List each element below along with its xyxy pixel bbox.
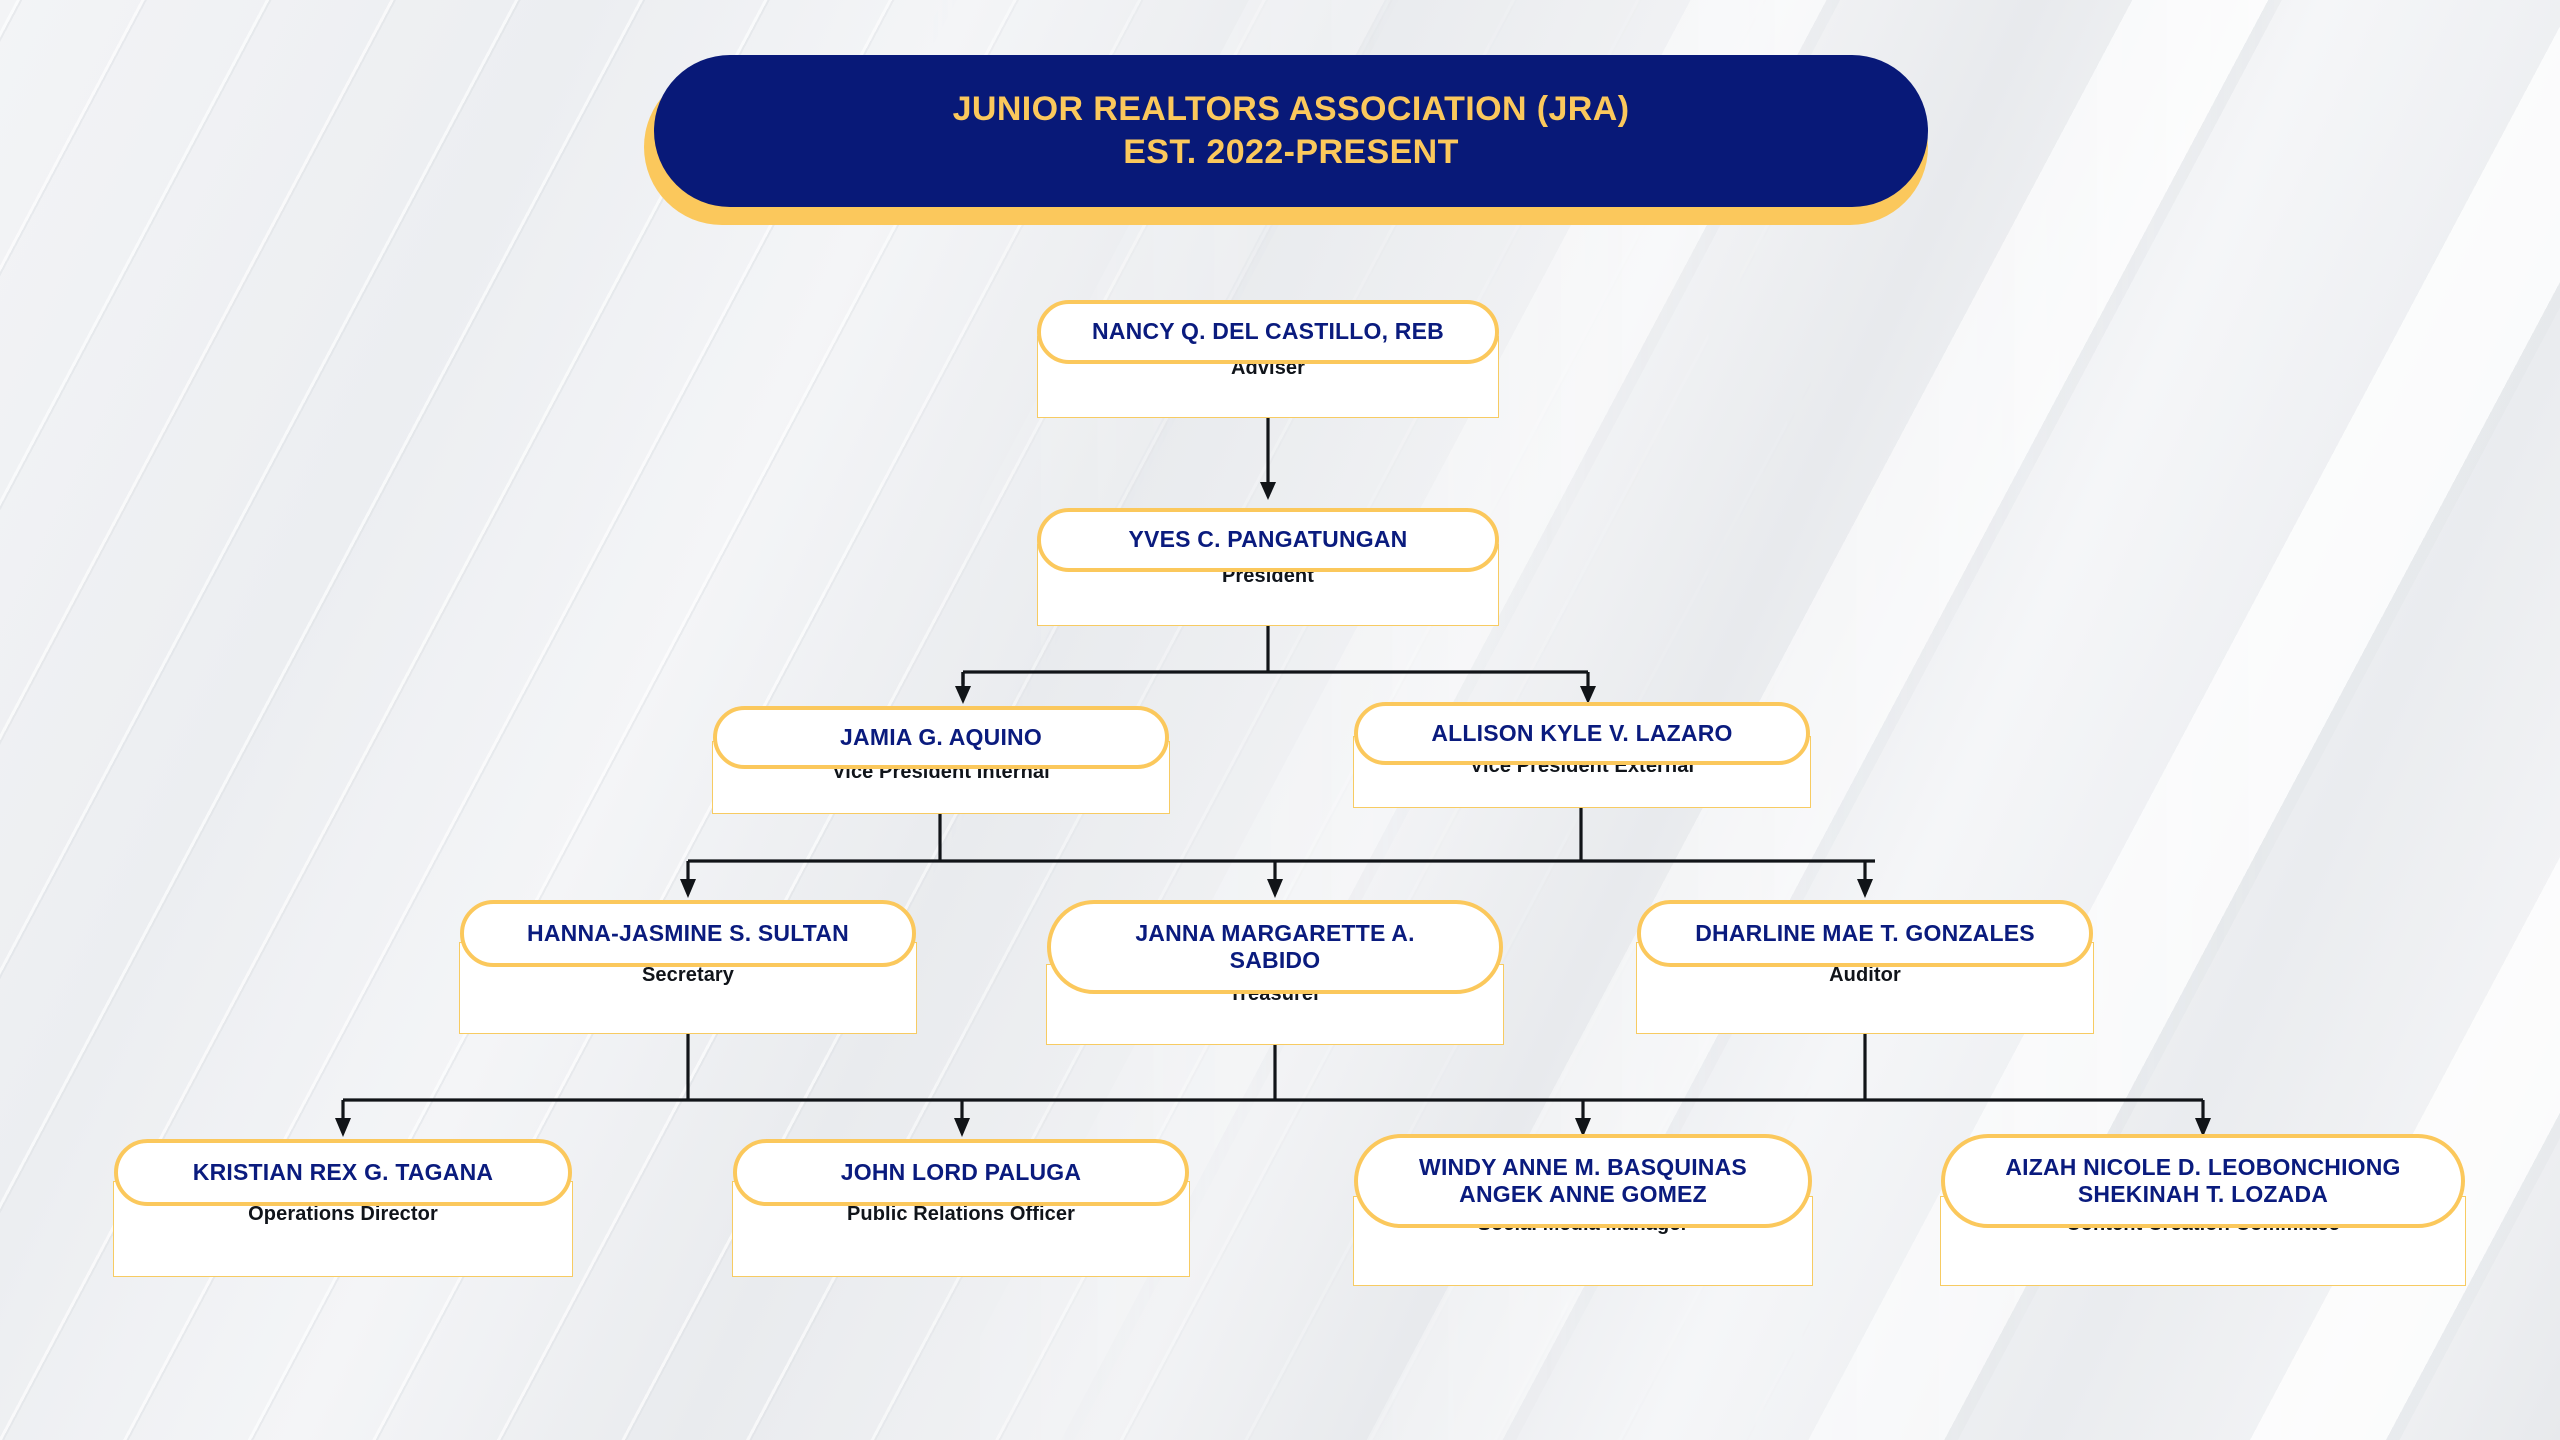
auditor-name: DHARLINE MAE T. GONZALES bbox=[1637, 900, 2093, 967]
title-banner: JUNIOR REALTORS ASSOCIATION (JRA) EST. 2… bbox=[644, 55, 1928, 225]
node-social-media-manager[interactable]: Social Media Manager WINDY ANNE M. BASQU… bbox=[1353, 1134, 1813, 1251]
node-public-relations-officer[interactable]: Public Relations Officer JOHN LORD PALUG… bbox=[732, 1139, 1190, 1277]
node-adviser[interactable]: Adviser NANCY Q. DEL CASTILLO, REB bbox=[1037, 300, 1499, 418]
smm-name-line-1: WINDY ANNE M. BASQUINAS bbox=[1419, 1154, 1747, 1181]
adviser-name: NANCY Q. DEL CASTILLO, REB bbox=[1037, 300, 1499, 364]
ccc-name-line-2: SHEKINAH T. LOZADA bbox=[2078, 1181, 2328, 1208]
president-name: YVES C. PANGATUNGAN bbox=[1037, 508, 1499, 572]
pro-name: JOHN LORD PALUGA bbox=[733, 1139, 1189, 1206]
node-treasurer[interactable]: Treasurer JANNA MARGARETTE A. SABIDO bbox=[1046, 900, 1504, 1045]
node-vice-president-external[interactable]: Vice President External ALLISON KYLE V. … bbox=[1353, 702, 1811, 808]
auditor-role: Auditor bbox=[1636, 964, 2094, 987]
vpe-name: ALLISON KYLE V. LAZARO bbox=[1354, 702, 1810, 765]
node-secretary[interactable]: Secretary HANNA-JASMINE S. SULTAN bbox=[459, 900, 917, 1034]
org-chart-stage: JUNIOR REALTORS ASSOCIATION (JRA) EST. 2… bbox=[0, 0, 2560, 1440]
ops-role: Operations Director bbox=[113, 1203, 573, 1226]
node-auditor[interactable]: Auditor DHARLINE MAE T. GONZALES bbox=[1636, 900, 2094, 1034]
smm-name: WINDY ANNE M. BASQUINAS ANGEK ANNE GOMEZ bbox=[1354, 1134, 1812, 1228]
title-banner-body: JUNIOR REALTORS ASSOCIATION (JRA) EST. 2… bbox=[654, 55, 1928, 207]
secretary-role: Secretary bbox=[459, 964, 917, 987]
node-president[interactable]: President YVES C. PANGATUNGAN bbox=[1037, 508, 1499, 626]
title-line-2: EST. 2022-PRESENT bbox=[1123, 133, 1459, 172]
ccc-name: AIZAH NICOLE D. LEOBONCHIONG SHEKINAH T.… bbox=[1941, 1134, 2465, 1228]
treasurer-name: JANNA MARGARETTE A. SABIDO bbox=[1047, 900, 1503, 994]
vpi-name: JAMIA G. AQUINO bbox=[713, 706, 1169, 769]
pro-role: Public Relations Officer bbox=[732, 1203, 1190, 1226]
node-vice-president-internal[interactable]: Vice President Internal JAMIA G. AQUINO bbox=[712, 706, 1170, 814]
node-operations-director[interactable]: Operations Director KRISTIAN REX G. TAGA… bbox=[113, 1139, 573, 1277]
secretary-name: HANNA-JASMINE S. SULTAN bbox=[460, 900, 916, 967]
node-content-creation-committee[interactable]: Content Creation Committee AIZAH NICOLE … bbox=[1940, 1134, 2466, 1251]
treasurer-name-line-1: JANNA MARGARETTE A. bbox=[1135, 920, 1414, 947]
ccc-name-line-1: AIZAH NICOLE D. LEOBONCHIONG bbox=[2005, 1154, 2400, 1181]
smm-name-line-2: ANGEK ANNE GOMEZ bbox=[1459, 1181, 1707, 1208]
title-line-1: JUNIOR REALTORS ASSOCIATION (JRA) bbox=[953, 90, 1630, 129]
treasurer-name-line-2: SABIDO bbox=[1230, 947, 1321, 974]
ops-name: KRISTIAN REX G. TAGANA bbox=[114, 1139, 572, 1206]
